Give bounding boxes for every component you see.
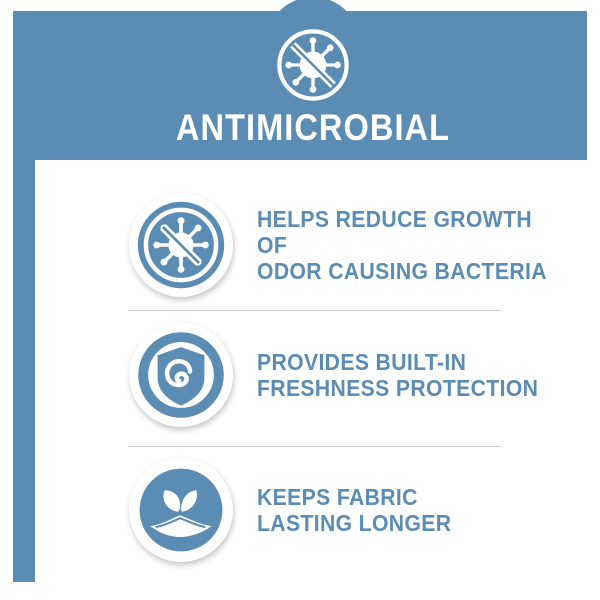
no-virus-icon [271,23,355,107]
page-title: ANTIMICROBIAL [60,108,565,148]
list-item: HELPS REDUCE GROWTH OF ODOR CAUSING BACT… [35,185,591,305]
list-item: KEEPS FABRIC LASTING LONGER [35,450,591,570]
feature-icon-wrap-1 [129,193,233,297]
list-item: PROVIDES BUILT-IN FRESHNESS PROTECTION [35,315,591,435]
divider [128,310,501,311]
feature-text-3: KEEPS FABRIC LASTING LONGER [257,484,451,536]
feature-text-1: HELPS REDUCE GROWTH OF ODOR CAUSING BACT… [257,206,564,284]
feature-list: HELPS REDUCE GROWTH OF ODOR CAUSING BACT… [35,160,591,584]
shield-swirl-icon [136,330,226,420]
leaves-fabric-icon [136,465,226,555]
blue-frame: ANTIMICROBIAL [13,11,587,582]
feature-text-2: PROVIDES BUILT-IN FRESHNESS PROTECTION [257,349,538,401]
infographic-card: ANTIMICROBIAL [0,0,600,600]
feature-icon-wrap-2 [129,323,233,427]
feature-icon-wrap-3 [129,458,233,562]
divider [128,446,501,447]
no-virus-icon [136,200,226,290]
